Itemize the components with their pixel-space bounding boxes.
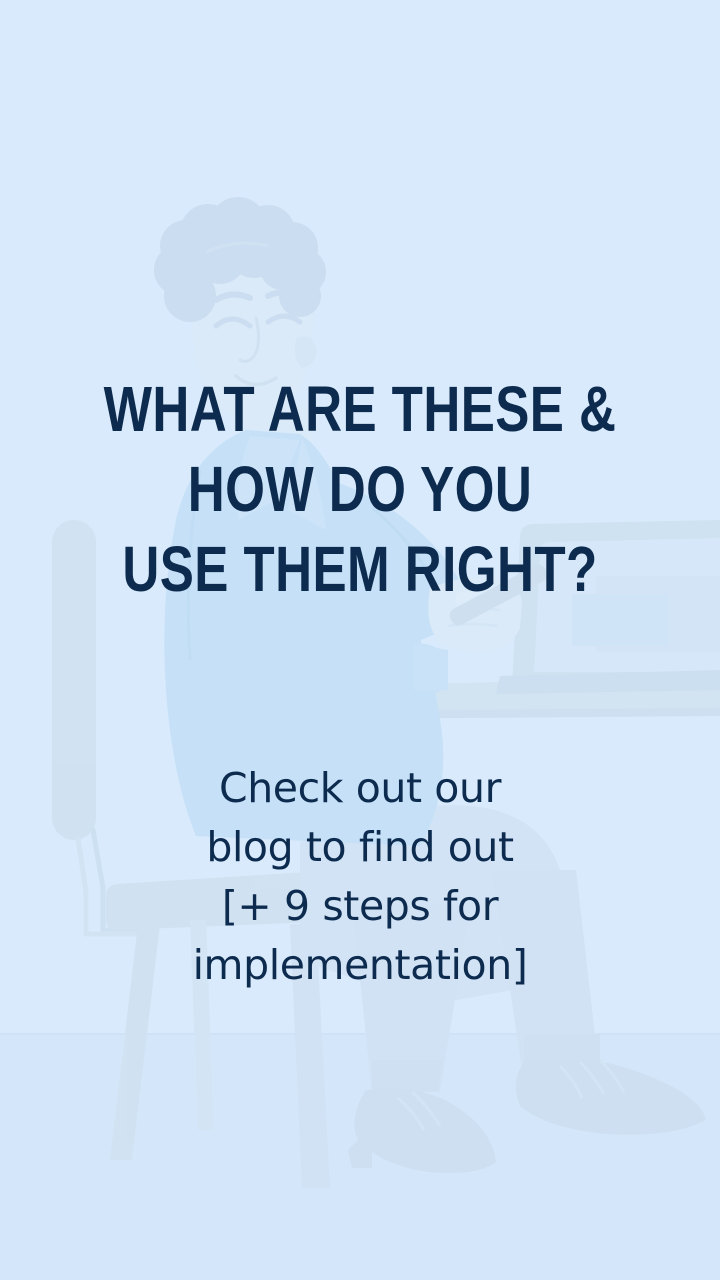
page-title: WHAT ARE THESE & HOW DO YOU USE THEM RIG… bbox=[72, 369, 648, 609]
text-layer: WHAT ARE THESE & HOW DO YOU USE THEM RIG… bbox=[0, 0, 720, 1280]
poster-canvas: WHAT ARE THESE & HOW DO YOU USE THEM RIG… bbox=[0, 0, 720, 1280]
call-to-action-text: Check out our blog to find out [+ 9 step… bbox=[0, 759, 720, 995]
